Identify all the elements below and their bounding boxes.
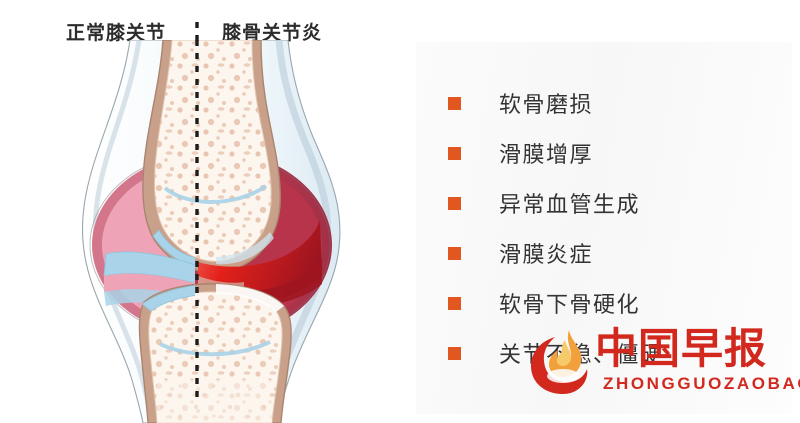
bullet-square-icon (448, 297, 461, 310)
list-item: 异常血管生成 (448, 178, 664, 228)
list-item: 软骨磨损 (448, 78, 664, 128)
logo-pinyin: ZHONGGUOZAOBAO (603, 374, 800, 394)
bullet-square-icon (448, 347, 461, 360)
list-item: 滑膜炎症 (448, 228, 664, 278)
symptom-label: 滑膜增厚 (499, 137, 593, 169)
knee-joint-illustration (20, 40, 410, 423)
symptom-label: 软骨磨损 (499, 87, 593, 119)
symptom-label: 异常血管生成 (499, 187, 640, 219)
bullet-square-icon (448, 197, 461, 210)
list-item: 滑膜增厚 (448, 128, 664, 178)
publisher-logo: 中国早报 ZHONGGUOZAOBAO (525, 318, 795, 410)
flame-swoosh-icon (525, 324, 601, 400)
symptom-label: 软骨下骨硬化 (499, 287, 640, 319)
bullet-square-icon (448, 247, 461, 260)
symptom-label: 滑膜炎症 (499, 237, 593, 269)
logo-wordmark: 中国早报 (595, 326, 767, 372)
divider-dashed-line-top (20, 22, 410, 44)
infographic-root: 正常膝关节 膝骨关节炎 (0, 0, 800, 423)
bullet-square-icon (448, 97, 461, 110)
bullet-square-icon (448, 147, 461, 160)
